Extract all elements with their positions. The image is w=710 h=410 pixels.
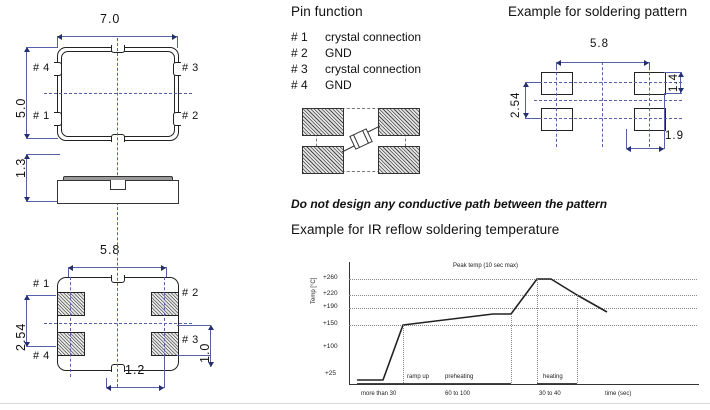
soldering-pattern-title: Example for soldering pattern	[508, 4, 708, 19]
bottom-notch-bottom	[111, 364, 125, 372]
centerline-horizontal	[44, 93, 192, 94]
notch-bottom	[111, 134, 125, 142]
solder-dim-span-5-8: 5.8	[590, 38, 609, 50]
pin-function-title: Pin function	[291, 4, 491, 19]
solder-pad-bottom-left	[541, 108, 573, 131]
pin-label-3: # 3	[182, 62, 199, 74]
dim-width-7-0: 7.0	[100, 12, 120, 26]
pin-number: # 4	[291, 78, 325, 92]
bottom-pin-label-4: # 4	[33, 350, 50, 362]
chart-phase-divider	[537, 279, 538, 383]
chart-duration-label-ramp-up: more than 30	[361, 391, 396, 397]
reflow-title: Example for IR reflow soldering temperat…	[291, 222, 559, 237]
notch-right-upper	[173, 62, 181, 76]
pin-function-section: Pin function # 1crystal connection # 2GN…	[291, 4, 491, 19]
bottom-centerline-vertical	[117, 207, 118, 387]
pad-4	[57, 332, 85, 356]
chart-profile-line	[305, 258, 705, 403]
pin-description: GND	[325, 46, 352, 60]
chart-duration-bar	[537, 383, 577, 384]
bottom-notch-top	[111, 275, 125, 283]
chart-phase-divider	[403, 325, 404, 383]
chart-phase-label-heating: heating	[543, 374, 563, 380]
bottom-pin-label-3: # 3	[182, 334, 199, 346]
bottom-pin-label-1: # 1	[33, 278, 50, 290]
solder-dim-pitch-2-54: 2.54	[510, 92, 522, 118]
pin-number: # 3	[291, 62, 325, 76]
footer-divider	[0, 403, 710, 404]
pad-3	[151, 332, 179, 356]
chart-duration-bar	[357, 383, 511, 384]
bottom-view-drawing: 5.8 # 1 # 2 # 4 # 3 2.54 1.2	[0, 215, 250, 410]
notch-left-upper	[54, 62, 62, 76]
pin-number: # 2	[291, 46, 325, 60]
solder-centerline-right	[649, 62, 650, 147]
bottom-pin-label-2: # 2	[182, 287, 199, 299]
top-view-drawing: 7.0 5.0 # 4 # 3 # 1 # 2 1.3	[0, 0, 250, 215]
chart-duration-label-heating: 30 to 40	[539, 391, 561, 397]
pad-centerline-left	[70, 277, 71, 377]
chart-phase-divider	[577, 295, 578, 383]
notch-right-lower	[173, 112, 181, 126]
crystal-connection-trace	[302, 106, 418, 172]
solder-centerline-center	[602, 62, 603, 147]
solder-pad-top-left	[541, 72, 573, 95]
bottom-centerline-horizontal	[44, 323, 192, 324]
soldering-pattern-drawing: 5.8 2.54 1.4 1.9	[508, 30, 708, 160]
pin-label-4: # 4	[33, 62, 50, 74]
pin-label-2: # 2	[182, 110, 199, 122]
chart-duration-label-preheating: 60 to 100	[445, 391, 470, 397]
pin-description: crystal connection	[325, 30, 421, 44]
pin-function-row: # 1crystal connection	[291, 30, 421, 44]
pin-description: GND	[325, 78, 352, 92]
side-view-center-notch	[110, 180, 126, 190]
solder-centerline-left	[556, 62, 557, 147]
pin-function-row: # 4GND	[291, 78, 421, 92]
pin-function-list: # 1crystal connection # 2GND # 3crystal …	[291, 30, 421, 92]
datasheet-page: 7.0 5.0 # 4 # 3 # 1 # 2 1.3	[0, 0, 710, 410]
chart-phase-label-ramp-up: ramp up	[407, 374, 429, 380]
notch-top	[111, 45, 125, 53]
solder-pad-bottom-right	[634, 108, 666, 131]
pin-number: # 1	[291, 30, 325, 44]
pin-function-row: # 3crystal connection	[291, 62, 421, 76]
pin-description: crystal connection	[325, 62, 421, 76]
solder-pad-top-right	[634, 72, 666, 95]
chart-phase-divider	[511, 314, 512, 383]
soldering-pattern-section: Example for soldering pattern	[508, 4, 708, 19]
pin-layout-mini-diagram	[302, 106, 418, 172]
chart-phase-label-preheating: preheating	[445, 374, 473, 380]
chart-x-axis-label: time (sec)	[605, 391, 631, 397]
pin-function-row: # 2GND	[291, 46, 421, 60]
conductive-path-warning: Do not design any conductive path betwee…	[291, 197, 607, 211]
pin-label-1: # 1	[33, 110, 50, 122]
reflow-temperature-chart: Temp [°C] +260 +220 +190 +150 +100 +25 P…	[305, 258, 705, 403]
package-outline-inner	[61, 51, 175, 137]
notch-left-lower	[54, 112, 62, 126]
solder-dim-pad-width-1-9: 1.9	[665, 130, 684, 142]
pad-2	[151, 292, 179, 316]
dim-pad-width-1-2: 1.2	[125, 363, 145, 377]
pad-1	[57, 292, 85, 316]
